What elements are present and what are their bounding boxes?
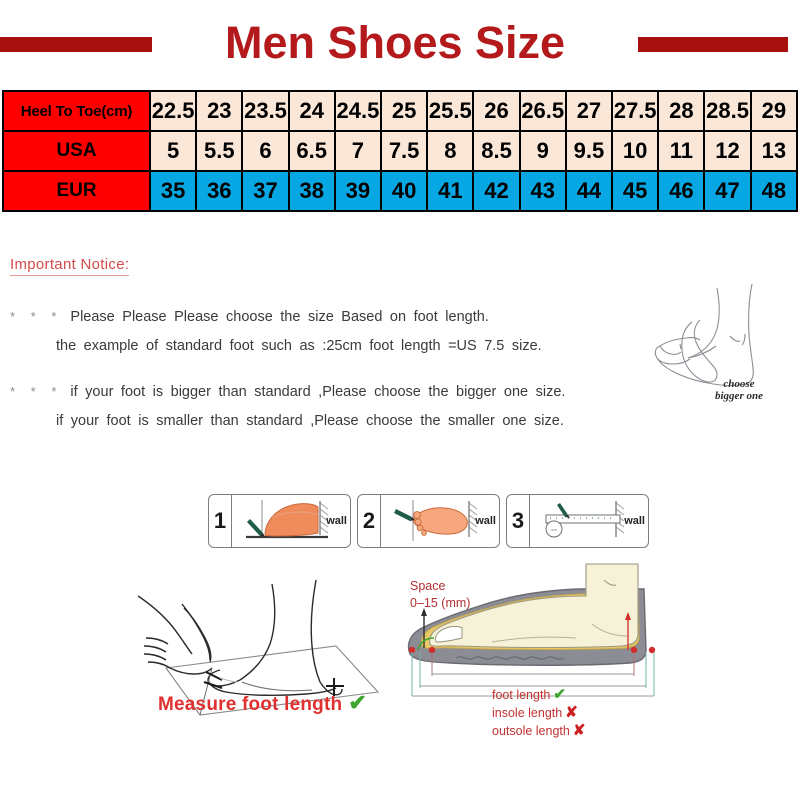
decorative-bar-left <box>0 37 152 52</box>
table-cell: 47 <box>704 171 750 211</box>
wall-label: wall <box>326 515 347 527</box>
svg-text:cm: cm <box>551 527 557 532</box>
table-cell: 25 <box>381 91 427 131</box>
step-panel-2: 2 <box>357 494 500 548</box>
table-cell: 45 <box>612 171 658 211</box>
table-cell: 41 <box>427 171 473 211</box>
notice-line: if your foot is smaller than standard ,P… <box>10 407 670 436</box>
measure-foot-length-label: Measure foot length✔ <box>158 690 367 716</box>
notice-text: if your foot is smaller than standard ,P… <box>56 413 564 429</box>
table-cell: 27.5 <box>612 91 658 131</box>
table-cell: 7 <box>335 131 381 171</box>
table-row: USA 5 5.5 6 6.5 7 7.5 8 8.5 9 9.5 10 11 … <box>3 131 797 171</box>
row-header-usa: USA <box>3 131 150 171</box>
important-notice-heading: Important Notice: <box>10 256 129 276</box>
space-line-2: 0–15 (mm) <box>410 596 470 610</box>
table-cell: 23.5 <box>242 91 288 131</box>
spacer <box>10 361 670 377</box>
notice-line: * * *if your foot is bigger than standar… <box>10 377 670 407</box>
cross-icon: ✘ <box>573 722 586 739</box>
table-cell: 39 <box>335 171 381 211</box>
step-illustration-sole-print-icon: wall <box>381 495 499 547</box>
table-cell: 29 <box>751 91 797 131</box>
table-cell: 7.5 <box>381 131 427 171</box>
table-cell: 26 <box>473 91 519 131</box>
table-row: Heel To Toe(cm) 22.5 23 23.5 24 24.5 25 … <box>3 91 797 131</box>
asterisk-marker: * * * <box>10 384 62 399</box>
table-cell: 24 <box>289 91 335 131</box>
step-panel-3: 3 <box>506 494 649 548</box>
row-header-heel-to-toe: Heel To Toe(cm) <box>3 91 150 131</box>
table-cell: 5.5 <box>196 131 242 171</box>
legend-text: foot length <box>492 688 550 702</box>
wall-label: wall <box>475 515 496 527</box>
table-cell: 35 <box>150 171 196 211</box>
step-illustration-side-foot-icon: wall <box>232 495 350 547</box>
table-cell: 22.5 <box>150 91 196 131</box>
space-annotation: Space 0–15 (mm) <box>410 578 470 612</box>
notice-text: if your foot is bigger than standard ,Pl… <box>70 384 565 400</box>
table-cell: 9 <box>520 131 566 171</box>
page-header: Men Shoes Size <box>0 0 800 88</box>
foot-sketch-caption: choose bigger one <box>684 378 794 402</box>
legend-row-foot-length: foot length✔ <box>492 686 585 704</box>
size-chart-table: Heel To Toe(cm) 22.5 23 23.5 24 24.5 25 … <box>2 90 798 212</box>
step-panel-1: 1 <box>208 494 351 548</box>
table-cell: 8 <box>427 131 473 171</box>
table-cell: 11 <box>658 131 704 171</box>
table-cell: 24.5 <box>335 91 381 131</box>
table-row: EUR 35 36 37 38 39 40 41 42 43 44 45 46 … <box>3 171 797 211</box>
table-cell: 23 <box>196 91 242 131</box>
row-header-eur: EUR <box>3 171 150 211</box>
table-cell: 25.5 <box>427 91 473 131</box>
step-number: 2 <box>358 495 381 547</box>
table-cell: 46 <box>658 171 704 211</box>
notice-line: the example of standard foot such as :25… <box>10 332 670 361</box>
wall-label: wall <box>624 515 645 527</box>
asterisk-marker: * * * <box>10 309 62 324</box>
table-cell: 10 <box>612 131 658 171</box>
table-cell: 26.5 <box>520 91 566 131</box>
measure-label-text: Measure foot length <box>158 694 342 715</box>
table-cell: 8.5 <box>473 131 519 171</box>
check-icon: ✔ <box>348 690 367 715</box>
table-cell: 6.5 <box>289 131 335 171</box>
step-number: 3 <box>507 495 530 547</box>
table-cell: 37 <box>242 171 288 211</box>
decorative-bar-right <box>638 37 788 52</box>
legend-text: insole length <box>492 706 562 720</box>
table-cell: 28.5 <box>704 91 750 131</box>
table-cell: 44 <box>566 171 612 211</box>
table-cell: 36 <box>196 171 242 211</box>
table-cell: 42 <box>473 171 519 211</box>
legend-row-outsole-length: outsole length✘ <box>492 722 585 740</box>
table-cell: 13 <box>751 131 797 171</box>
table-cell: 12 <box>704 131 750 171</box>
table-cell: 9.5 <box>566 131 612 171</box>
notice-line: * * *Please Please Please choose the siz… <box>10 302 670 332</box>
table-cell: 5 <box>150 131 196 171</box>
page-title: Men Shoes Size <box>152 20 638 69</box>
cross-icon: ✘ <box>565 704 578 721</box>
table-cell: 28 <box>658 91 704 131</box>
step-illustration-tape-measure-icon: cm wall <box>530 495 648 547</box>
check-icon: ✔ <box>553 686 566 703</box>
important-notice-body: * * *Please Please Please choose the siz… <box>10 302 670 436</box>
caption-line-2: bigger one <box>715 390 763 402</box>
legend-row-insole-length: insole length✘ <box>492 704 585 722</box>
length-legend: foot length✔ insole length✘ outsole leng… <box>492 686 585 740</box>
step-number: 1 <box>209 495 232 547</box>
caption-line-1: choose <box>723 378 754 390</box>
notice-text: the example of standard foot such as :25… <box>56 338 542 354</box>
size-chart-table-wrapper: Heel To Toe(cm) 22.5 23 23.5 24 24.5 25 … <box>2 90 798 212</box>
table-cell: 38 <box>289 171 335 211</box>
legend-text: outsole length <box>492 724 570 738</box>
table-cell: 40 <box>381 171 427 211</box>
table-cell: 43 <box>520 171 566 211</box>
space-line-1: Space <box>410 579 445 593</box>
table-cell: 27 <box>566 91 612 131</box>
measurement-steps-panel: 1 <box>208 494 649 548</box>
notice-text: Please Please Please choose the size Bas… <box>70 309 488 325</box>
table-cell: 6 <box>242 131 288 171</box>
table-cell: 48 <box>751 171 797 211</box>
